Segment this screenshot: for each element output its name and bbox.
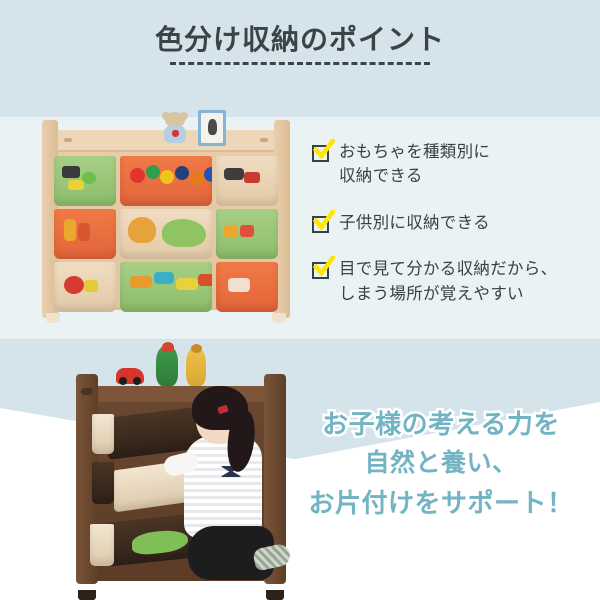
- checklist-item-label: 目で見て分かる収納だから、 しまう場所が覚えやすい: [339, 257, 557, 306]
- teddy-bear-prop: [160, 112, 190, 144]
- bin-row-2: [54, 209, 278, 259]
- bin-beige: [120, 209, 213, 259]
- shelf-top-rail: [82, 386, 278, 402]
- toy-shelf-natural-photo: [42, 112, 290, 317]
- bin-green: [120, 262, 213, 312]
- shelf-bin-dark: [92, 462, 114, 504]
- feature-checklist: おもちゃを種類別に 収納できる 子供別に収納できる 目で見て分かる収納だから、 …: [312, 140, 584, 328]
- dinosaur-toy-prop: [156, 346, 178, 386]
- title-dashed-underline: [170, 62, 430, 65]
- toy-shelf-brown-photo: [68, 358, 318, 596]
- checklist-item: 子供別に収納できる: [312, 211, 584, 235]
- checklist-item: 目で見て分かる収納だから、 しまう場所が覚えやすい: [312, 257, 584, 306]
- bin-green: [216, 209, 278, 259]
- check-tick-icon: [313, 256, 335, 278]
- tagline-line-2: 自然と養い、: [286, 444, 596, 483]
- bin-beige: [216, 156, 278, 206]
- bin-row-1: [54, 156, 278, 206]
- benefit-tagline: お子様の考える力を 自然と養い、 お片付けをサポート！: [286, 404, 596, 523]
- header-band: 色分け収納のポイント: [0, 0, 600, 117]
- shelf-bin-light: [92, 414, 114, 454]
- shelf-handle-hole-left: [64, 138, 72, 142]
- bin-orange: [216, 262, 278, 312]
- page-title: 色分け収納のポイント: [0, 18, 600, 58]
- bin-green: [54, 156, 116, 206]
- checkmark-icon: [312, 143, 331, 162]
- bin-orange: [120, 156, 213, 206]
- toy-car-prop: [116, 368, 144, 384]
- checklist-item: おもちゃを種類別に 収納できる: [312, 140, 584, 189]
- giraffe-toy-prop: [186, 348, 206, 386]
- shelf-foot-left: [78, 590, 96, 600]
- tagline-line-3: お片付けをサポート！: [286, 483, 596, 523]
- shelf-foot-left: [46, 313, 60, 323]
- bin-row-3: [54, 262, 278, 312]
- shelf-handle-hole-right: [260, 138, 268, 142]
- checklist-item-label: おもちゃを種類別に 収納できる: [339, 140, 490, 189]
- bin-beige: [54, 262, 116, 312]
- checklist-item-label: 子供別に収納できる: [339, 211, 490, 235]
- checkmark-icon: [312, 214, 331, 233]
- checkmark-icon: [312, 260, 331, 279]
- shelf-bin-light: [90, 524, 114, 566]
- tagline-line-1: お子様の考える力を: [286, 404, 596, 444]
- check-tick-icon: [313, 139, 335, 161]
- shelf-foot-right: [272, 313, 286, 323]
- bin-orange: [54, 209, 116, 259]
- shelf-foot-right: [266, 590, 284, 600]
- advertisement-page: 色分け収納のポイント: [0, 0, 600, 600]
- check-tick-icon: [313, 210, 335, 232]
- photo-frame-prop: [198, 110, 226, 146]
